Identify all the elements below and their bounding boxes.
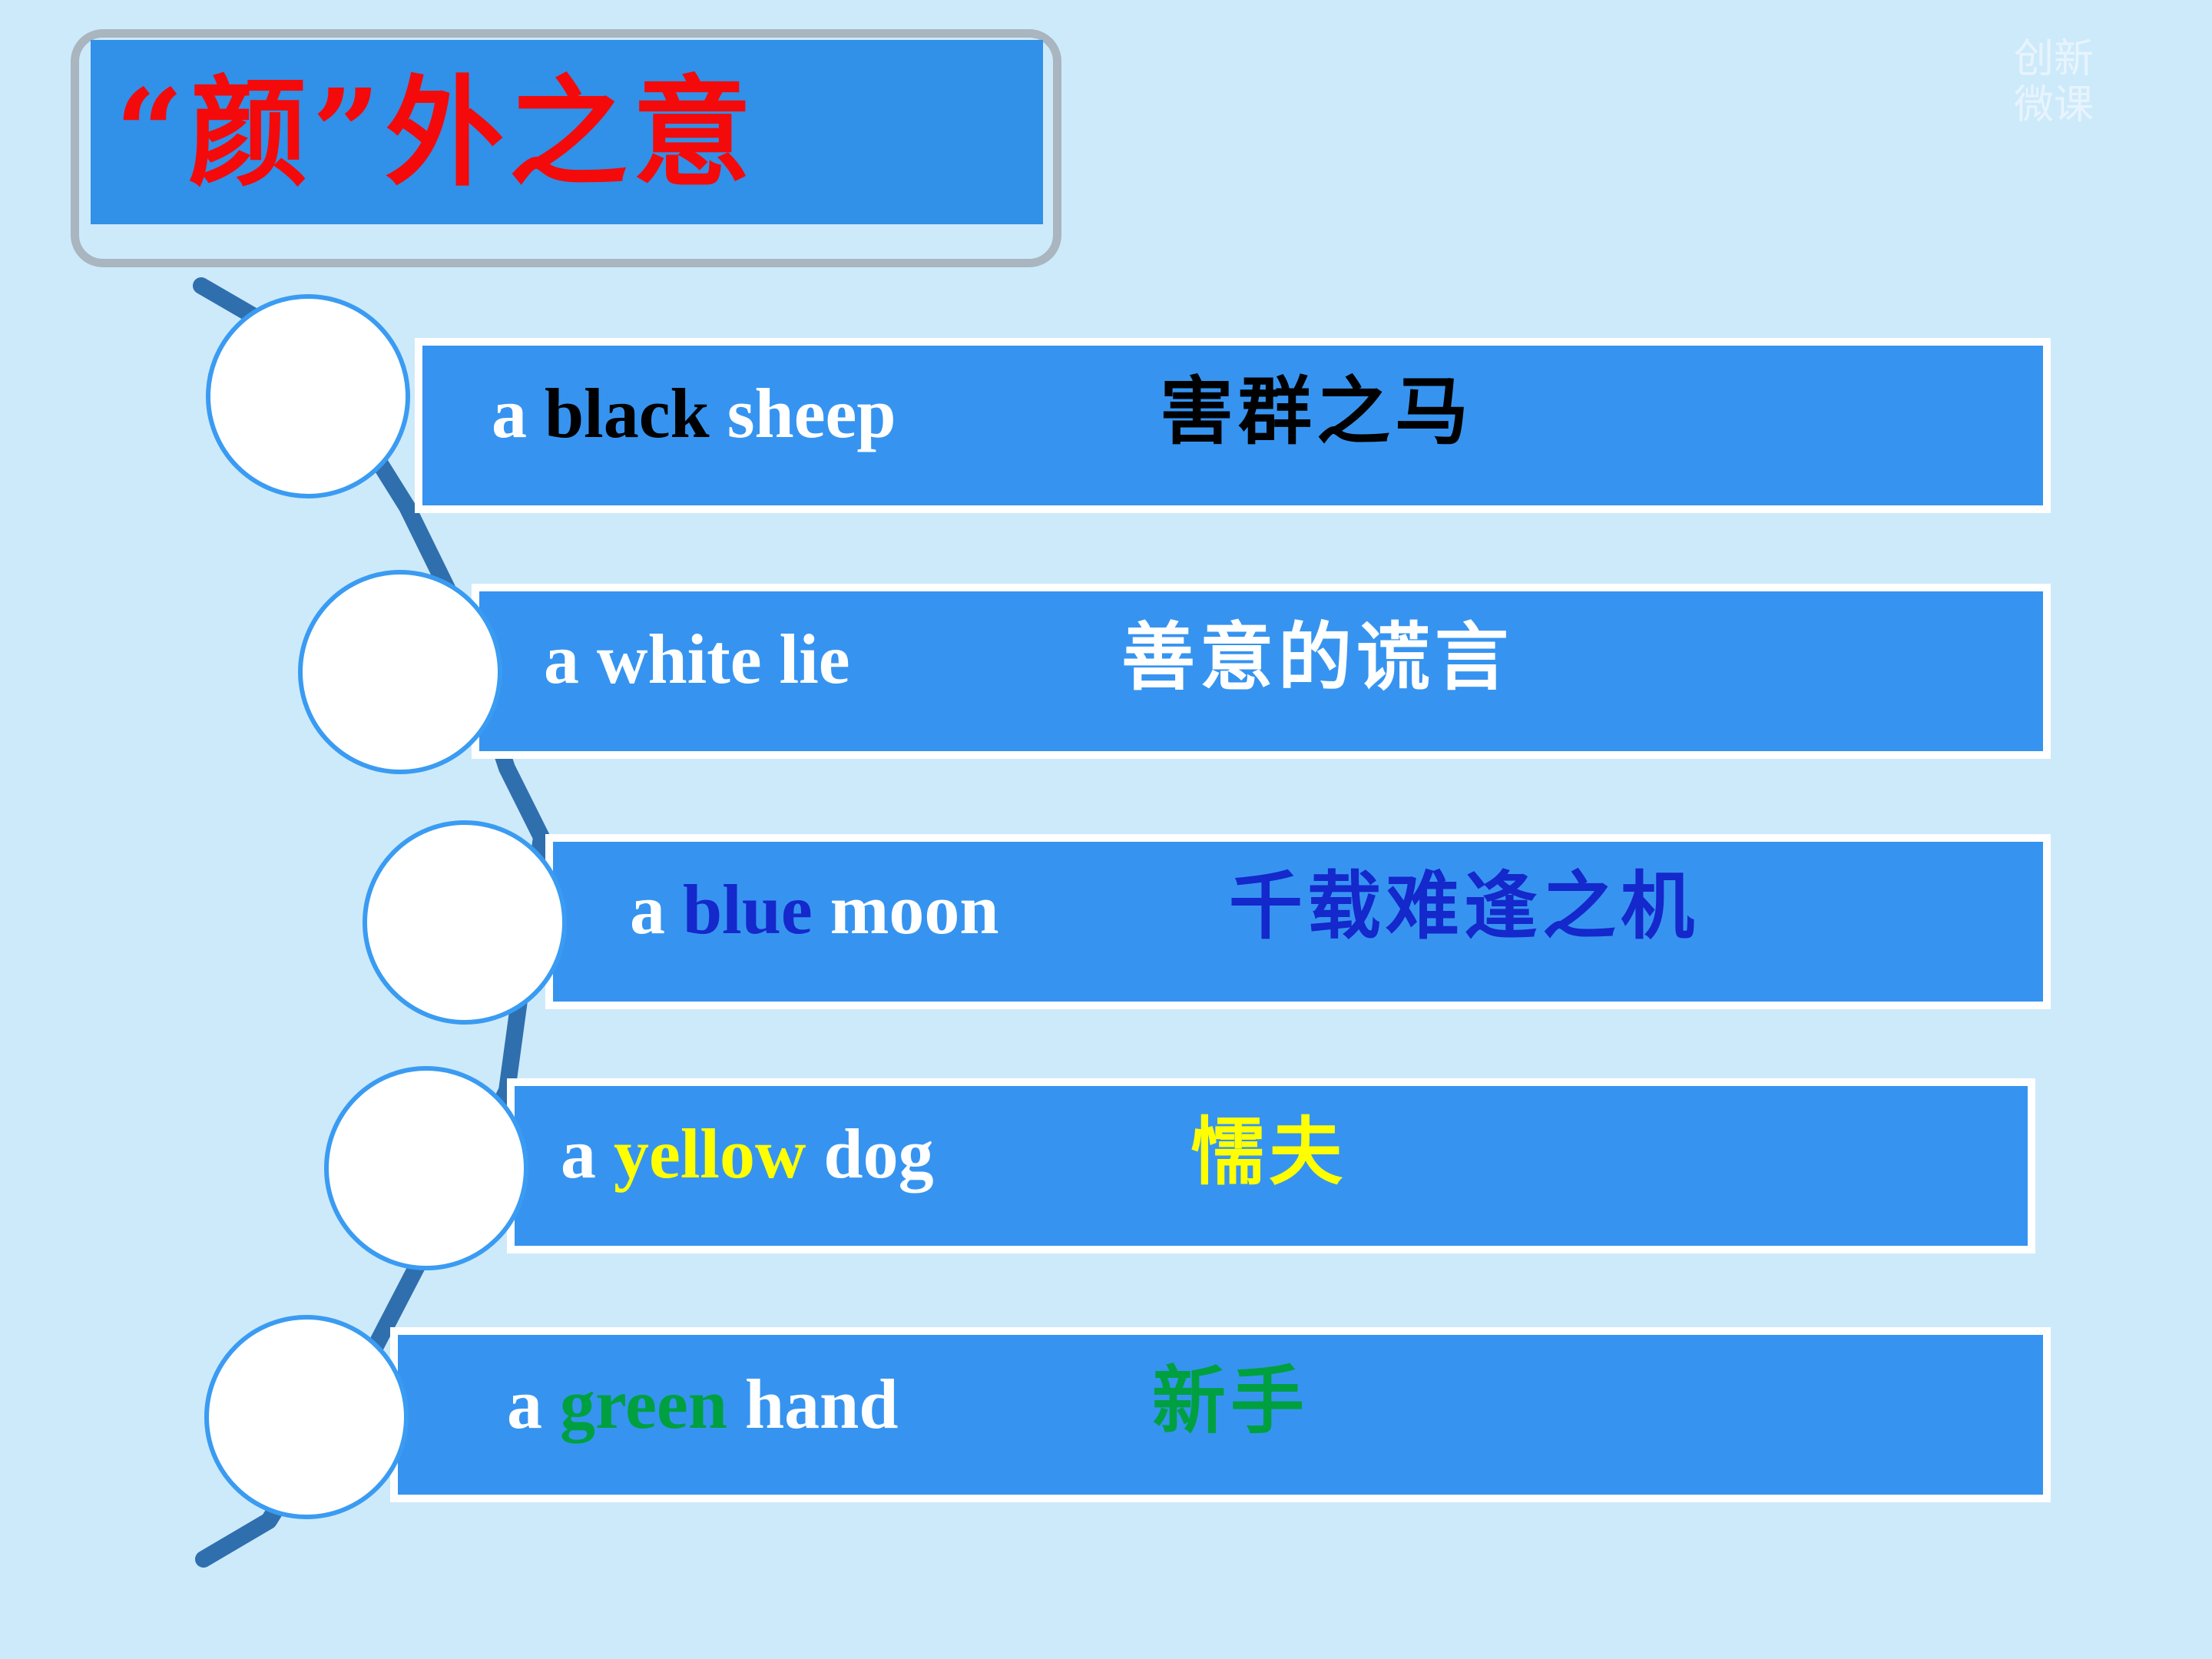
color-word-green: green [560, 1365, 727, 1443]
bubble-1[interactable] [206, 294, 410, 498]
slide-canvas: “颜”外之意 创新 微课 a black sheep 害群之马 a white … [0, 0, 2212, 1659]
noun-text: sheep [710, 374, 896, 452]
noun-text: lie [762, 620, 850, 698]
meaning-black-sheep: 害群之马 [1160, 375, 1473, 449]
article-text: a [507, 1365, 560, 1443]
article-text: a [561, 1114, 614, 1193]
meaning-blue-moon: 千载难逢之机 [1229, 869, 1699, 943]
noun-text: dog [806, 1114, 933, 1193]
watermark: 创新 微课 [2014, 37, 2167, 129]
bubble-5[interactable] [204, 1315, 409, 1519]
phrase-green-hand: a green hand [507, 1369, 899, 1439]
article-text: a [492, 374, 545, 452]
phrase-black-sheep: a black sheep [492, 378, 896, 449]
watermark-line-1: 创新 [2014, 37, 2167, 83]
color-word-yellow: yellow [614, 1114, 806, 1193]
color-word-black: black [545, 374, 710, 452]
noun-text: moon [813, 870, 999, 949]
meaning-white-lie: 善意的谎言 [1121, 621, 1513, 694]
phrase-blue-moon: a blue moon [630, 874, 999, 945]
color-word-blue: blue [683, 870, 813, 949]
bubble-3[interactable] [363, 820, 567, 1025]
meaning-yellow-dog: 懦夫 [1190, 1115, 1347, 1189]
color-word-white: white [597, 620, 762, 698]
meaning-green-hand: 新手 [1152, 1364, 1309, 1438]
noun-text: hand [727, 1365, 899, 1443]
phrase-yellow-dog: a yellow dog [561, 1118, 934, 1189]
article-text: a [544, 620, 597, 698]
bubble-4[interactable] [324, 1066, 528, 1270]
page-title: “颜”外之意 [98, 40, 1043, 224]
article-text: a [630, 870, 683, 949]
watermark-line-2: 微课 [2014, 83, 2167, 129]
bubble-2[interactable] [298, 570, 502, 774]
phrase-white-lie: a white lie [544, 624, 850, 694]
